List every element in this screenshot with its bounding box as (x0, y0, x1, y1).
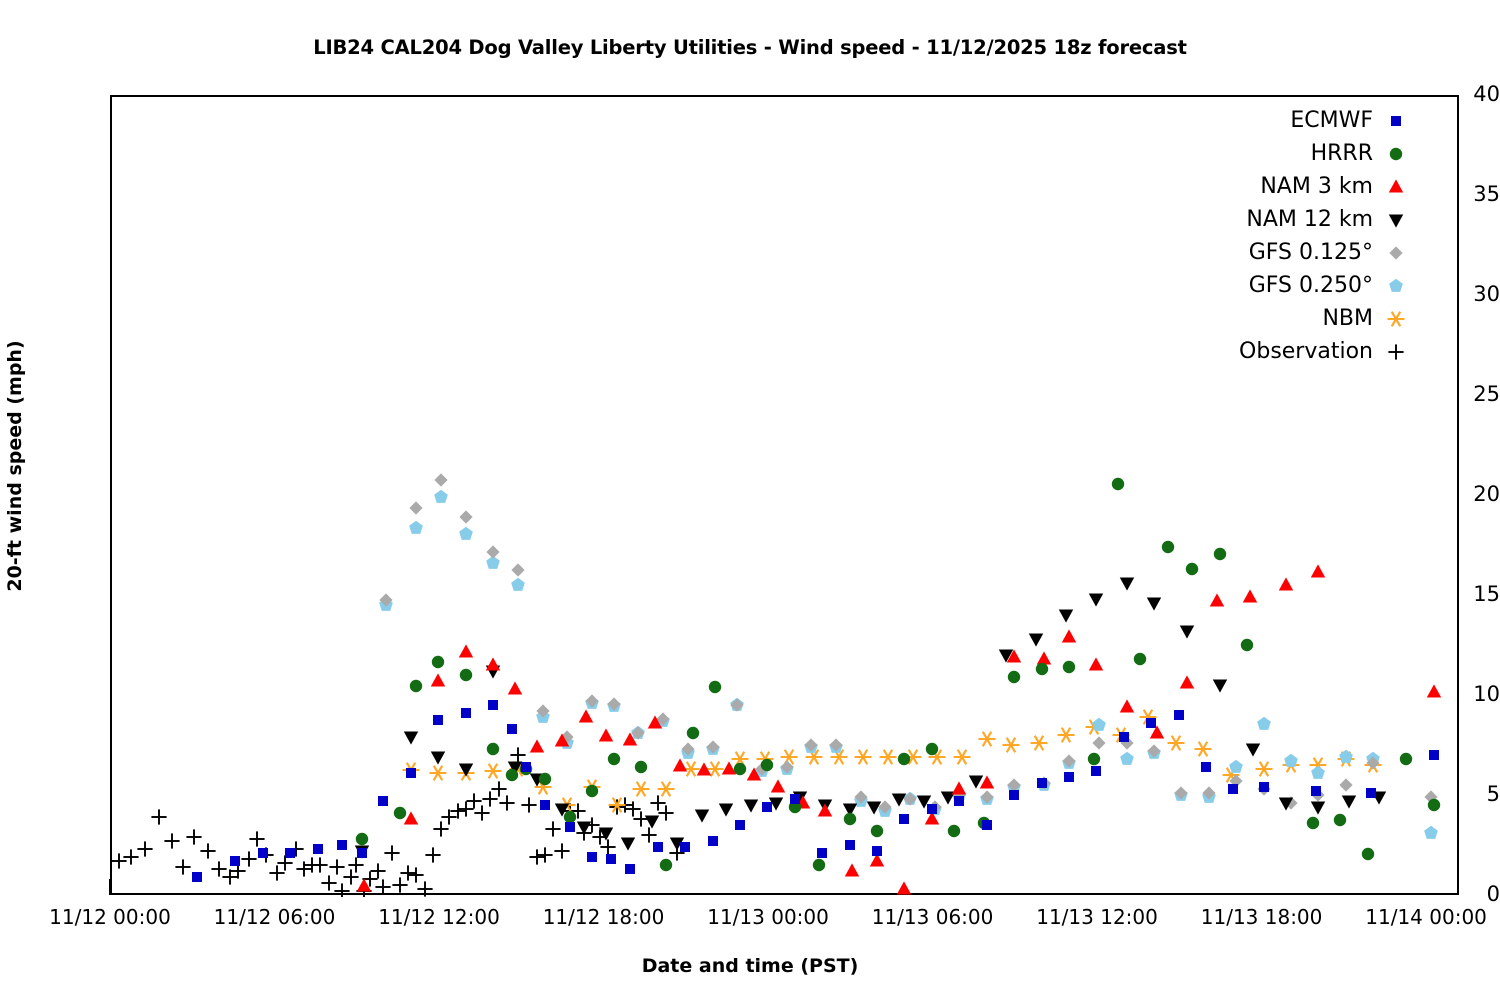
data-point (403, 495, 429, 521)
data-point (601, 746, 627, 772)
data-point (672, 834, 698, 860)
data-point (604, 792, 630, 818)
data-point (398, 760, 424, 786)
data-point (277, 840, 303, 866)
data-point (557, 814, 583, 840)
y-axis-label: 20-ft wind speed (mph) (4, 66, 26, 866)
data-point (1333, 744, 1359, 770)
data-point (480, 539, 506, 565)
data-point (1083, 586, 1109, 612)
legend-label: Observation (1239, 339, 1373, 364)
data-point (680, 720, 706, 746)
legend-item-nbm[interactable]: NBM (1135, 306, 1425, 339)
legend-marker-triangle-up-icon (1383, 174, 1425, 200)
data-point (798, 732, 824, 758)
x-tick-label: 11/14 00:00 (1316, 905, 1500, 929)
data-point (425, 649, 451, 675)
data-point (1026, 730, 1052, 756)
legend-label: HRRR (1311, 141, 1373, 166)
data-point (579, 778, 605, 804)
data-point (505, 557, 531, 583)
data-point (349, 840, 375, 866)
data-point (919, 736, 945, 762)
legend-marker-pentagon-icon (1383, 273, 1425, 299)
legend-label: NAM 3 km (1260, 174, 1373, 199)
data-point (691, 757, 717, 783)
data-point (1114, 694, 1140, 720)
data-point (1127, 646, 1153, 672)
data-point (1029, 770, 1055, 796)
data-point (1273, 572, 1299, 598)
legend-label: ECMWF (1290, 108, 1373, 133)
data-point (1305, 559, 1331, 585)
data-point (946, 788, 972, 814)
data-point (373, 587, 399, 613)
data-point (839, 858, 865, 884)
data-point (530, 698, 556, 724)
legend-item-hrrr[interactable]: HRRR (1135, 141, 1425, 174)
data-point (1360, 750, 1386, 776)
legend-item-observation[interactable]: Observation (1135, 339, 1425, 372)
data-point (1083, 758, 1109, 784)
data-point (1418, 820, 1444, 846)
legend-label: NBM (1322, 306, 1373, 331)
data-point (645, 834, 671, 860)
data-point (628, 754, 654, 780)
data-point (1303, 778, 1329, 804)
data-point (642, 710, 668, 736)
data-point (1204, 588, 1230, 614)
chart-page: LIB24 CAL204 Dog Valley Liberty Utilitie… (0, 0, 1500, 1000)
chart-title: LIB24 CAL204 Dog Valley Liberty Utilitie… (0, 36, 1500, 59)
data-point (974, 726, 1000, 752)
data-point (891, 876, 917, 897)
data-point (864, 838, 890, 864)
data-point (146, 804, 172, 830)
data-point (974, 770, 1000, 796)
data-point (425, 707, 451, 733)
data-point (222, 848, 248, 874)
legend-marker-diamond-icon (1383, 240, 1425, 266)
data-point (653, 776, 679, 802)
data-point (428, 467, 454, 493)
x-axis-label: Date and time (PST) (0, 955, 1500, 977)
data-point (919, 796, 945, 822)
data-point (1174, 618, 1200, 644)
data-point (184, 864, 210, 890)
data-point (1168, 780, 1194, 806)
data-point (727, 756, 753, 782)
data-point (480, 652, 506, 678)
data-point (250, 840, 276, 866)
data-point (837, 806, 863, 832)
data-point (823, 732, 849, 758)
data-point (453, 700, 479, 726)
data-point (1141, 590, 1167, 616)
data-point (1327, 807, 1353, 833)
legend-item-nam-3-km[interactable]: NAM 3 km (1135, 174, 1425, 207)
data-point (1056, 624, 1082, 650)
data-point (700, 828, 726, 854)
data-point (1251, 711, 1277, 737)
data-point (1220, 776, 1246, 802)
data-point (1166, 702, 1192, 728)
data-point (1083, 652, 1109, 678)
data-point (998, 732, 1024, 758)
legend-label: GFS 0.125° (1249, 240, 1373, 265)
data-point (809, 840, 835, 866)
data-point (1251, 774, 1277, 800)
data-point (812, 798, 838, 824)
data-point (689, 802, 715, 828)
legend-marker-asterisk-icon (1383, 306, 1425, 332)
data-point (1056, 764, 1082, 790)
data-point (480, 692, 506, 718)
data-point (1421, 742, 1447, 768)
data-point (132, 836, 158, 862)
data-point (1179, 556, 1205, 582)
data-point (425, 744, 451, 770)
data-point (351, 873, 377, 897)
data-point (513, 754, 539, 780)
data-point (420, 842, 446, 868)
data-point (782, 786, 808, 812)
legend-item-ecmwf[interactable]: ECMWF (1135, 108, 1425, 141)
legend-item-gfs-0-125[interactable]: GFS 0.125° (1135, 240, 1425, 273)
data-point (453, 504, 479, 530)
legend-item-gfs-0-250[interactable]: GFS 0.250° (1135, 273, 1425, 306)
data-point (532, 792, 558, 818)
data-point (1300, 810, 1326, 836)
data-point (601, 691, 627, 717)
legend-label: NAM 12 km (1246, 207, 1373, 232)
legend-marker-circle-icon (1383, 141, 1425, 167)
data-point (1237, 584, 1263, 610)
data-point (1056, 654, 1082, 680)
data-point (1053, 722, 1079, 748)
data-point (891, 806, 917, 832)
data-point (1234, 632, 1260, 658)
legend-item-nam-12-km[interactable]: NAM 12 km (1135, 207, 1425, 240)
data-point (1196, 780, 1222, 806)
data-point (1240, 736, 1266, 762)
data-point (617, 856, 643, 882)
data-point (974, 812, 1000, 838)
data-point (1278, 748, 1304, 774)
data-point (1111, 724, 1137, 750)
data-point (1155, 534, 1181, 560)
data-point (1355, 841, 1381, 867)
data-point (1207, 672, 1233, 698)
data-point (403, 673, 429, 699)
data-point (370, 788, 396, 814)
data-point (891, 746, 917, 772)
data-point (1193, 754, 1219, 780)
data-point (499, 716, 525, 742)
data-point (1105, 471, 1131, 497)
data-point (549, 728, 575, 754)
data-point (412, 876, 438, 897)
data-point (639, 808, 665, 834)
data-point (398, 724, 424, 750)
data-point (1114, 570, 1140, 596)
data-point (1421, 792, 1447, 818)
data-point (850, 744, 876, 770)
data-point (1001, 664, 1027, 690)
chart-legend: ECMWFHRRRNAM 3 kmNAM 12 kmGFS 0.125°GFS … (1135, 108, 1425, 372)
data-point (1138, 710, 1164, 736)
data-point (702, 674, 728, 700)
data-point (949, 744, 975, 770)
data-point (1174, 670, 1200, 696)
data-point (837, 832, 863, 858)
data-point (1393, 746, 1419, 772)
data-point (453, 756, 479, 782)
data-point (861, 794, 887, 820)
legend-marker-plus-icon (1383, 339, 1425, 365)
data-point (305, 836, 331, 862)
data-point (1358, 780, 1384, 806)
legend-marker-square-icon (1383, 108, 1425, 134)
legend-label: GFS 0.250° (1249, 273, 1373, 298)
data-point (1207, 541, 1233, 567)
data-point (754, 794, 780, 820)
legend-marker-triangle-down-icon (1383, 207, 1425, 233)
data-point (1001, 782, 1027, 808)
data-point (1421, 679, 1447, 705)
data-point (754, 752, 780, 778)
data-point (1029, 656, 1055, 682)
data-point (667, 753, 693, 779)
data-point (453, 662, 479, 688)
data-point (727, 812, 753, 838)
